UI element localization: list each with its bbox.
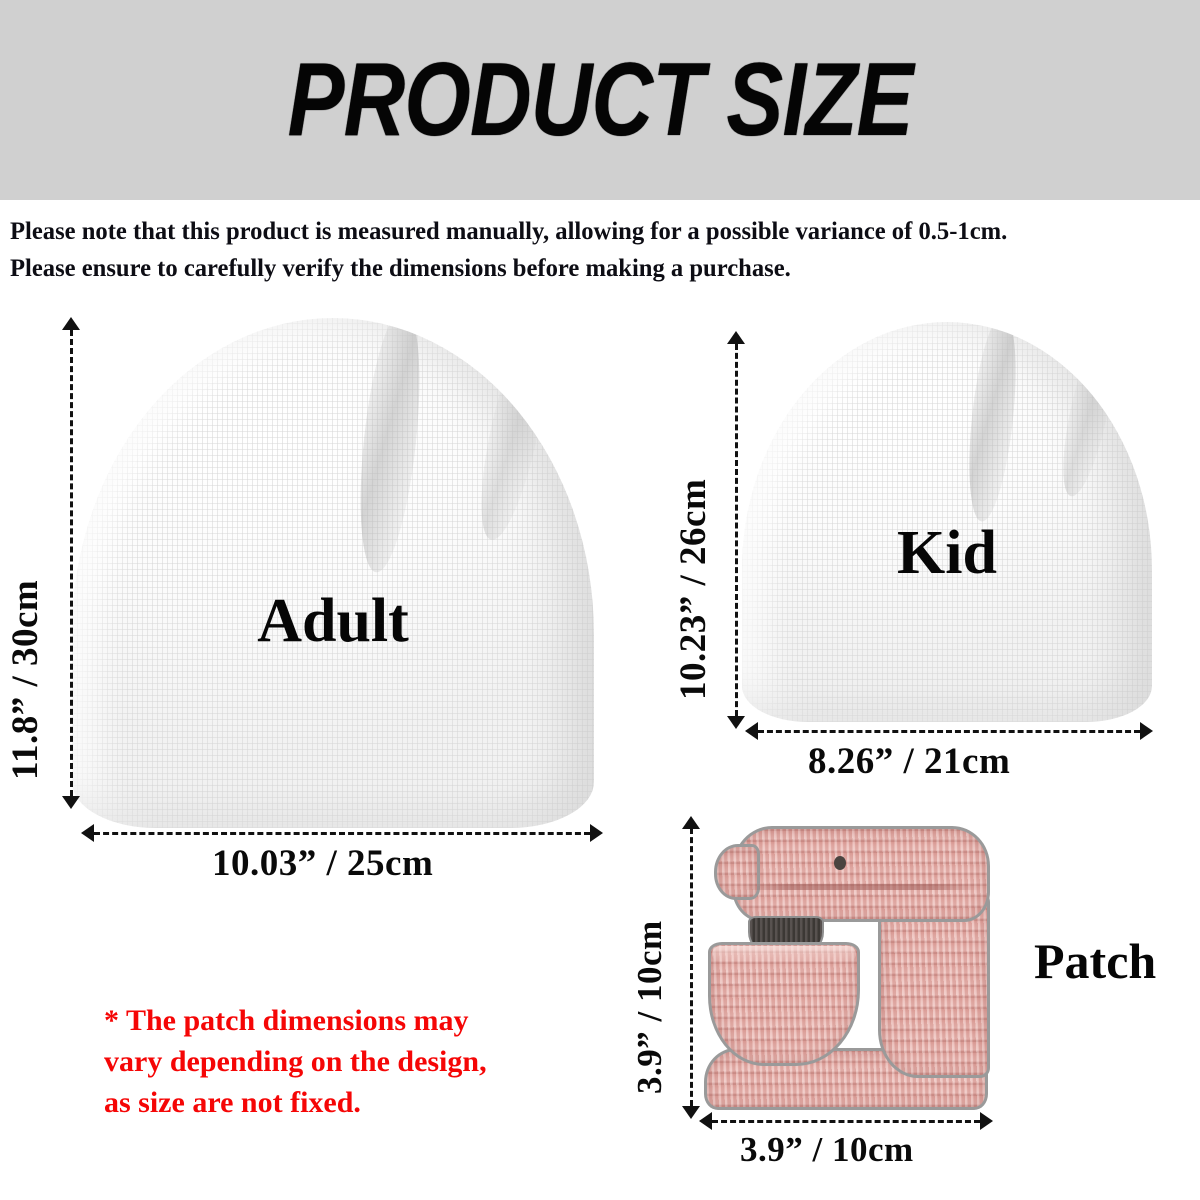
adult-height-arrow-bottom [62,796,80,809]
measurement-note-line-1: Please note that this product is measure… [10,212,1154,249]
patch-mixer-bowl-rim [712,946,856,962]
patch-mixer-head-seam [740,884,982,890]
kid-beanie-label: Kid [742,518,1152,589]
patch-height-label: 3.9” / 10cm [630,920,670,1094]
kid-width-arrow-left [745,722,758,740]
patch-height-arrow-top [682,816,700,829]
kid-height-dimension-line [735,344,738,716]
page-title: PRODUCT SIZE [287,48,912,152]
patch-caution-note: * The patch dimensions may vary dependin… [104,1000,487,1123]
patch-height-arrow-bottom [682,1106,700,1119]
patch-width-arrow-left [699,1112,712,1130]
kid-height-arrow-bottom [727,716,745,729]
kid-width-label: 8.26” / 21cm [808,740,1010,783]
patch-width-arrow-right [980,1112,993,1130]
patch-caution-line-1: * The patch dimensions may [104,1000,487,1041]
patch-width-dimension-line [712,1120,980,1123]
adult-beanie-image: Adult [72,318,594,828]
adult-width-arrow-left [81,824,94,842]
kid-beanie-image: Kid [742,322,1152,722]
patch-image [700,812,1000,1114]
adult-beanie-label: Adult [72,586,594,657]
patch-label: Patch [1034,932,1156,990]
product-size-infographic: PRODUCT SIZE Please note that this produ… [0,0,1200,1200]
kid-height-label: 10.23” / 26cm [672,479,715,700]
patch-height-dimension-line [690,828,693,1106]
adult-height-label: 11.8” / 30cm [4,580,47,780]
patch-width-label: 3.9” / 10cm [740,1130,914,1170]
patch-caution-line-3: as size are not fixed. [104,1082,487,1123]
patch-mixer-head [732,826,990,922]
patch-mixer-rivet-dot [834,856,846,870]
kid-height-arrow-top [727,331,745,344]
adult-width-arrow-right [590,824,603,842]
kid-width-arrow-right [1140,722,1153,740]
adult-height-dimension-line [70,330,73,796]
kid-width-dimension-line [758,730,1140,733]
header-band: PRODUCT SIZE [0,0,1200,200]
adult-width-dimension-line [94,832,590,835]
measurement-note-line-2: Please ensure to carefully verify the di… [10,249,1154,286]
adult-width-label: 10.03” / 25cm [212,842,433,885]
patch-mixer-nose [714,844,760,900]
patch-caution-line-2: vary depending on the design, [104,1041,487,1082]
adult-height-arrow-top [62,317,80,330]
measurement-note: Please note that this product is measure… [10,212,1195,286]
